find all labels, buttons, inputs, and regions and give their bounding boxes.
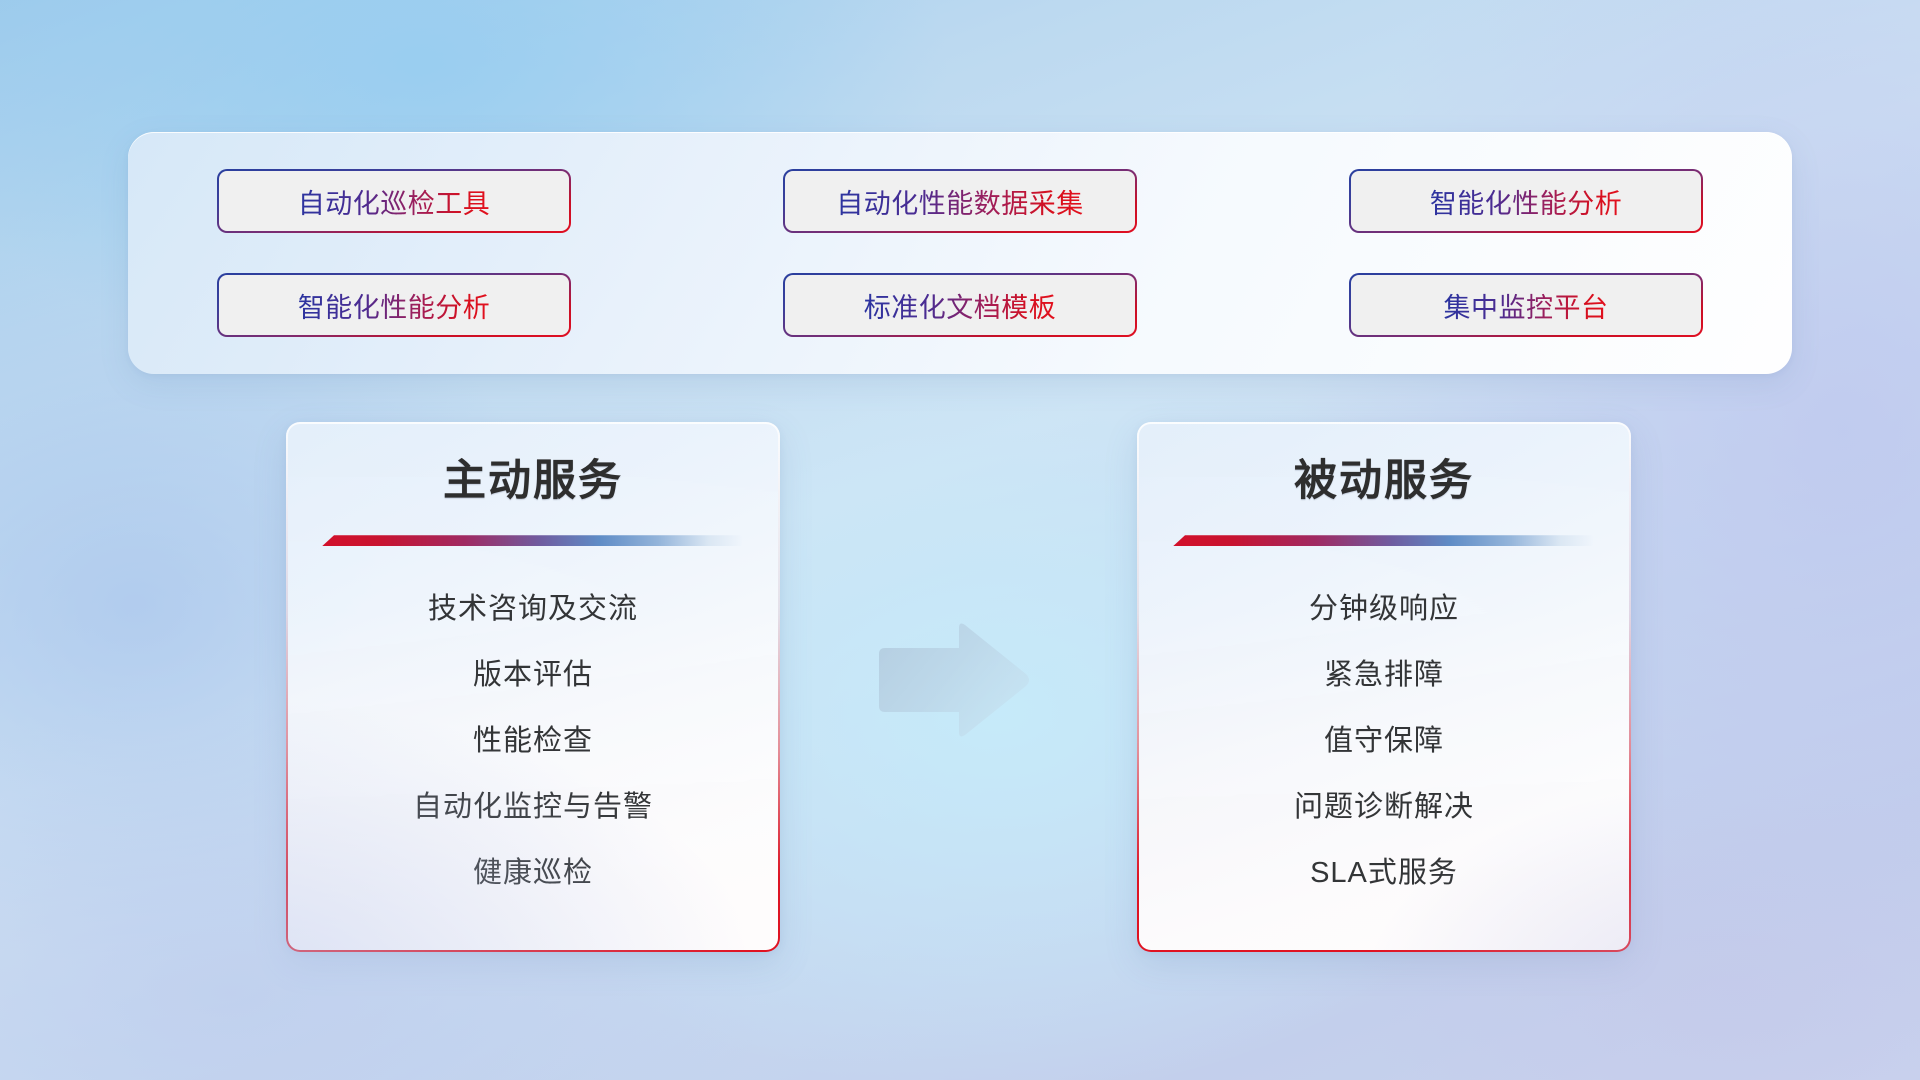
capability-pill[interactable]: 自动化巡检工具 bbox=[217, 169, 571, 233]
capability-pill[interactable]: 智能化性能分析 bbox=[1349, 169, 1703, 233]
capability-pill[interactable]: 集中监控平台 bbox=[1349, 273, 1703, 337]
card-divider bbox=[1173, 535, 1593, 546]
service-list-item: 版本评估 bbox=[473, 658, 593, 693]
capabilities-grid: 自动化巡检工具 自动化性能数据采集 智能化性能分析 智能化性能分析 标准化文档模… bbox=[184, 156, 1736, 350]
capability-pill-label: 标准化文档模板 bbox=[864, 286, 1057, 325]
capability-pill-label: 集中监控平台 bbox=[1444, 286, 1609, 325]
service-item-list: 技术咨询及交流 版本评估 性能检查 自动化监控与告警 健康巡检 bbox=[322, 546, 744, 928]
service-list-item: 技术咨询及交流 bbox=[428, 592, 638, 627]
arrow-right-icon bbox=[873, 620, 1033, 740]
service-card-reactive: 被动服务 分钟级响应 紧急排障 值守保障 问题诊断解决 SLA式服务 bbox=[1137, 422, 1631, 952]
slide-canvas: 自动化巡检工具 自动化性能数据采集 智能化性能分析 智能化性能分析 标准化文档模… bbox=[0, 0, 1920, 1080]
service-list-item: SLA式服务 bbox=[1310, 856, 1458, 891]
capability-pill-label: 智能化性能分析 bbox=[1430, 182, 1623, 221]
service-list-item: 紧急排障 bbox=[1324, 658, 1444, 693]
capability-pill-label: 自动化巡检工具 bbox=[298, 182, 491, 221]
service-list-item: 健康巡检 bbox=[473, 856, 593, 891]
capability-pill[interactable]: 标准化文档模板 bbox=[783, 273, 1137, 337]
flow-arrow bbox=[873, 620, 1033, 740]
service-item-list: 分钟级响应 紧急排障 值守保障 问题诊断解决 SLA式服务 bbox=[1173, 546, 1595, 928]
capability-pill-label: 自动化性能数据采集 bbox=[836, 182, 1084, 221]
service-list-item: 性能检查 bbox=[473, 724, 593, 759]
service-list-item: 问题诊断解决 bbox=[1294, 790, 1474, 825]
service-list-item: 值守保障 bbox=[1324, 724, 1444, 759]
service-card-title: 被动服务 bbox=[1173, 458, 1595, 505]
service-card-proactive: 主动服务 技术咨询及交流 版本评估 性能检查 自动化监控与告警 健康巡检 bbox=[286, 422, 780, 952]
service-card-title: 主动服务 bbox=[322, 458, 744, 505]
card-divider-bar bbox=[1173, 535, 1593, 546]
capability-pill[interactable]: 自动化性能数据采集 bbox=[783, 169, 1137, 233]
service-list-item: 分钟级响应 bbox=[1309, 592, 1459, 627]
card-divider bbox=[322, 535, 742, 546]
card-divider-bar bbox=[322, 535, 742, 546]
capability-pill-label: 智能化性能分析 bbox=[298, 286, 491, 325]
capabilities-panel: 自动化巡检工具 自动化性能数据采集 智能化性能分析 智能化性能分析 标准化文档模… bbox=[128, 132, 1792, 374]
capability-pill[interactable]: 智能化性能分析 bbox=[217, 273, 571, 337]
service-list-item: 自动化监控与告警 bbox=[413, 790, 653, 825]
